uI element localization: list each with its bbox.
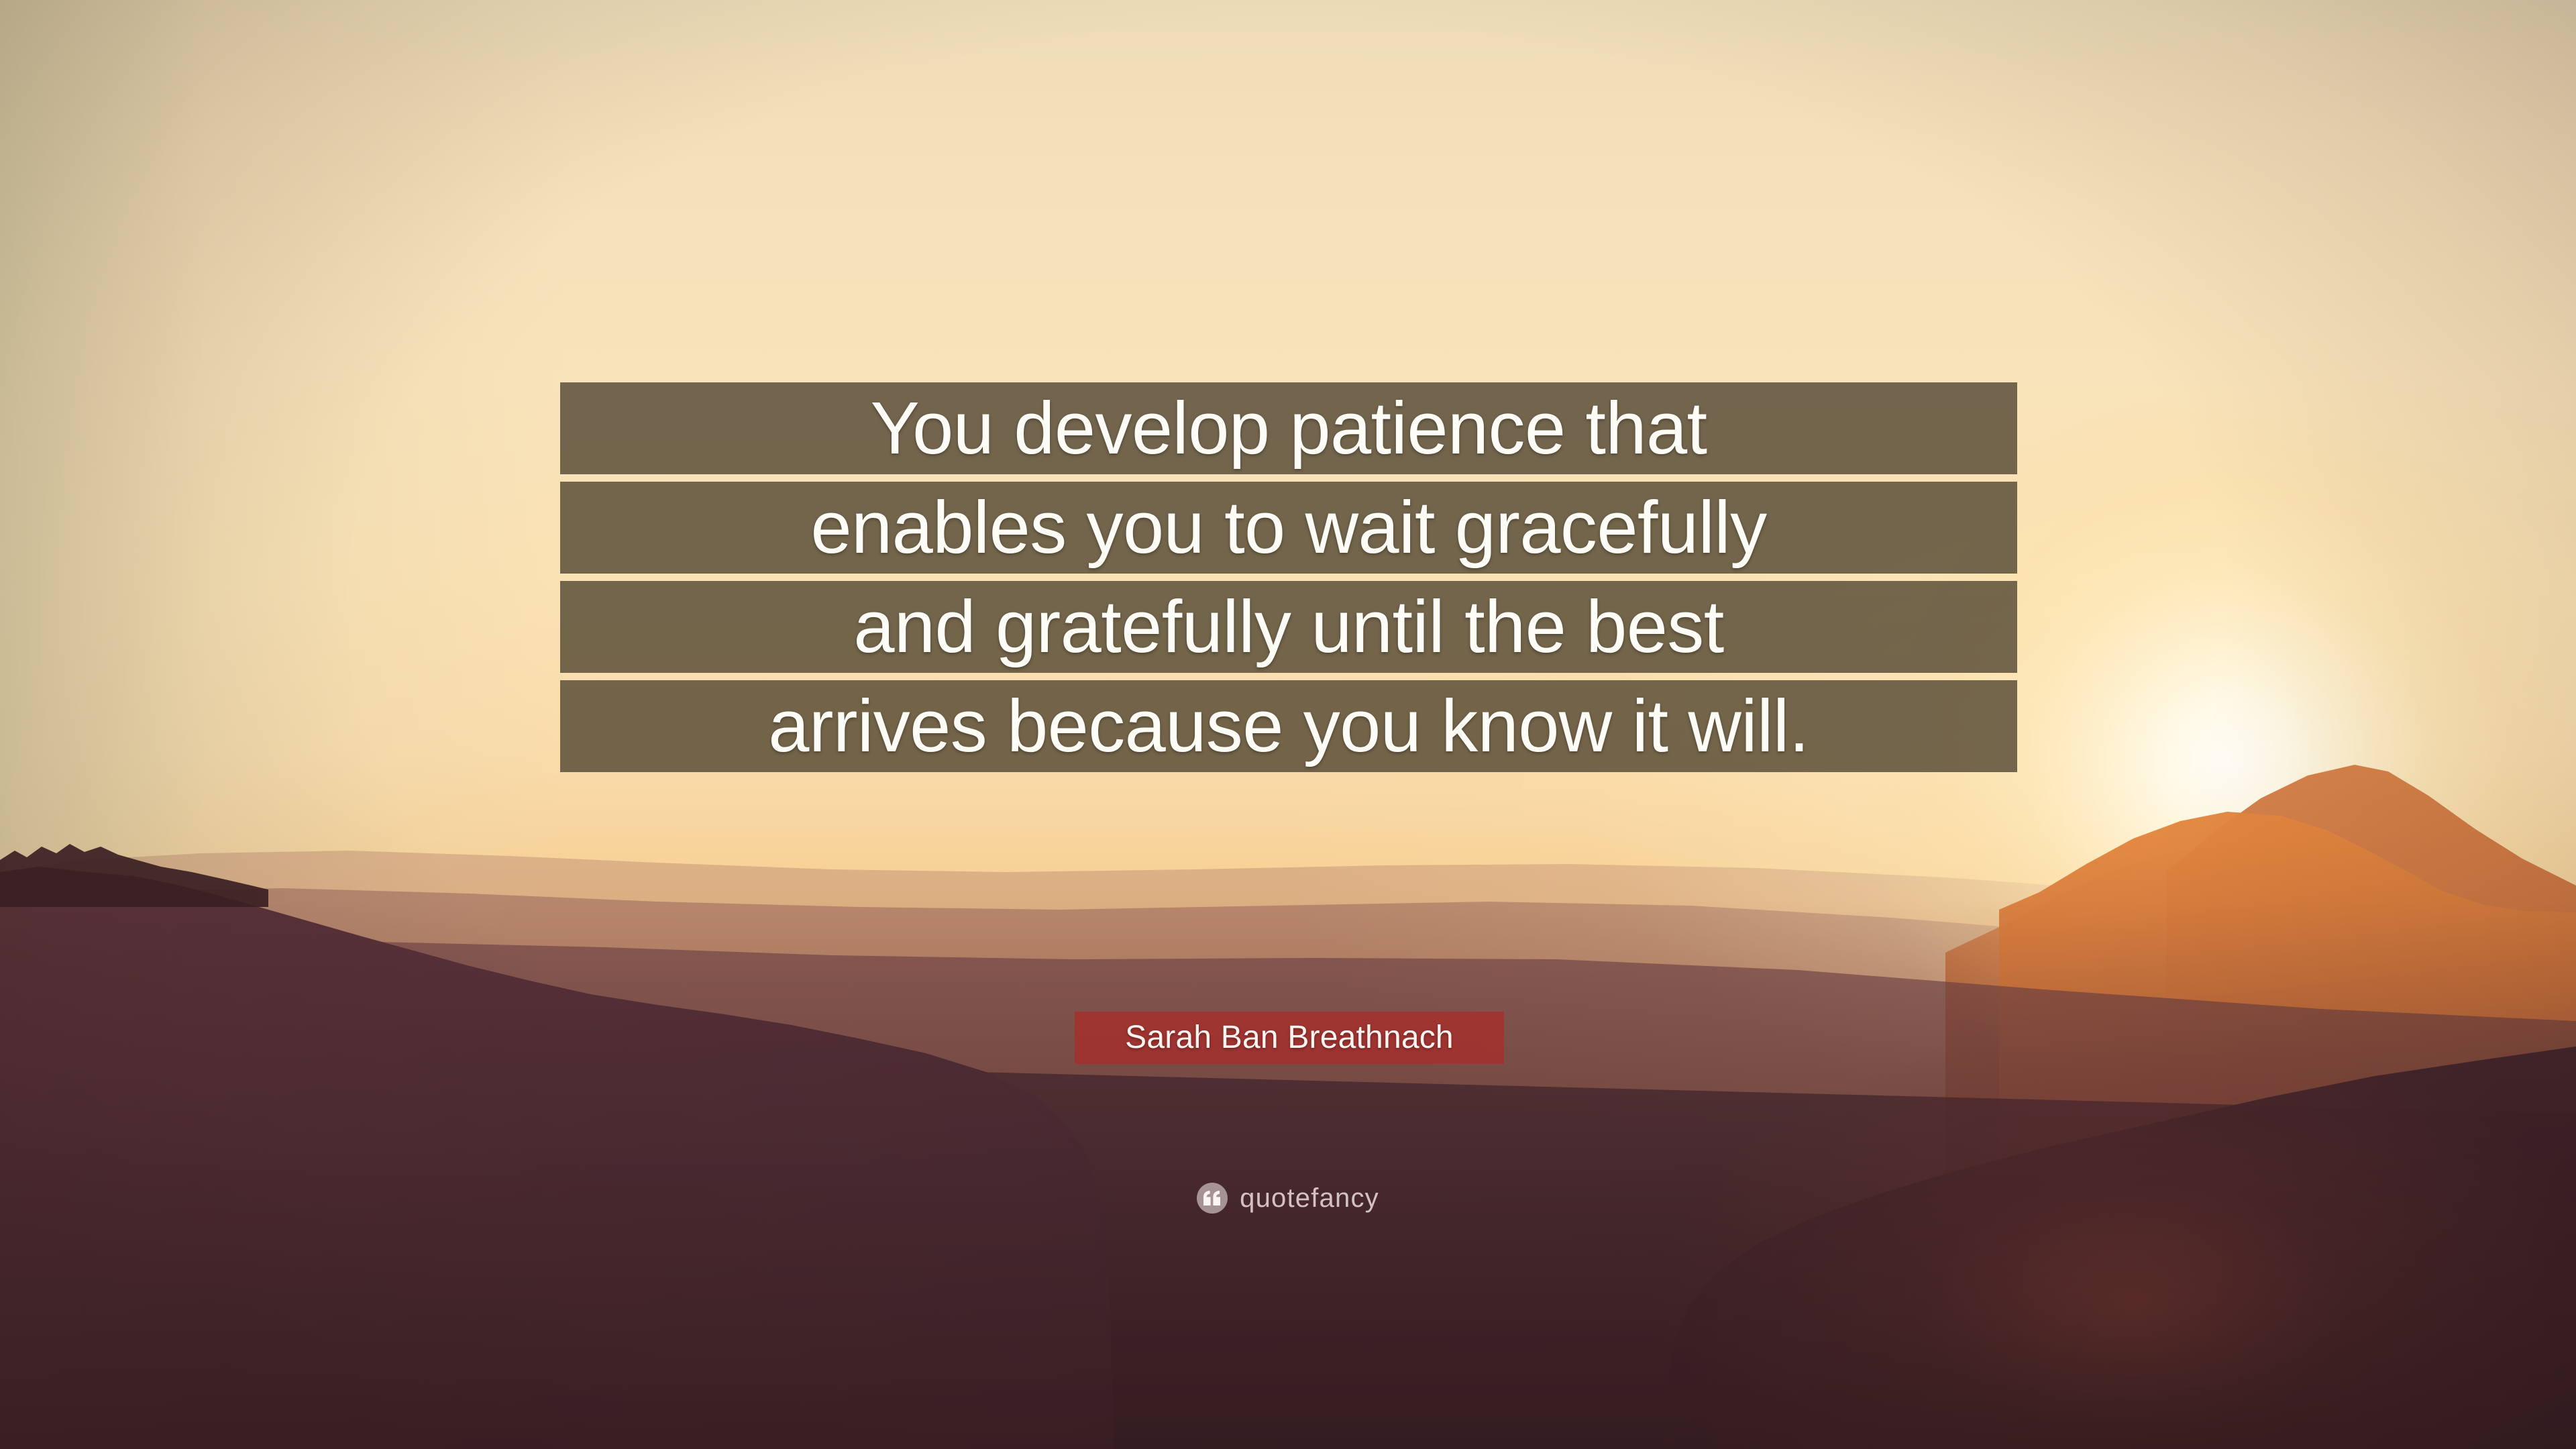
quote-line: enables you to wait gracefully — [560, 482, 2017, 574]
quote-line: You develop patience that — [560, 382, 2017, 474]
author-attribution: Sarah Ban Breathnach — [1075, 1012, 1504, 1064]
brand-name: quotefancy — [1240, 1183, 1379, 1213]
quote-line-text: enables you to wait gracefully — [810, 488, 1766, 568]
quote-line-text: arrives because you know it will. — [768, 687, 1809, 766]
quote-text-block: You develop patience that enables you to… — [560, 382, 2017, 772]
quote-line-text: and gratefully until the best — [853, 588, 1723, 667]
quote-line: and gratefully until the best — [560, 581, 2017, 673]
quote-poster: You develop patience that enables you to… — [0, 0, 2576, 1449]
quote-line: arrives because you know it will. — [560, 680, 2017, 772]
author-name: Sarah Ban Breathnach — [1125, 1020, 1454, 1055]
quote-line-text: You develop patience that — [871, 389, 1707, 468]
quotation-mark-icon — [1197, 1183, 1228, 1214]
quotefancy-watermark[interactable]: quotefancy — [0, 1183, 2576, 1214]
